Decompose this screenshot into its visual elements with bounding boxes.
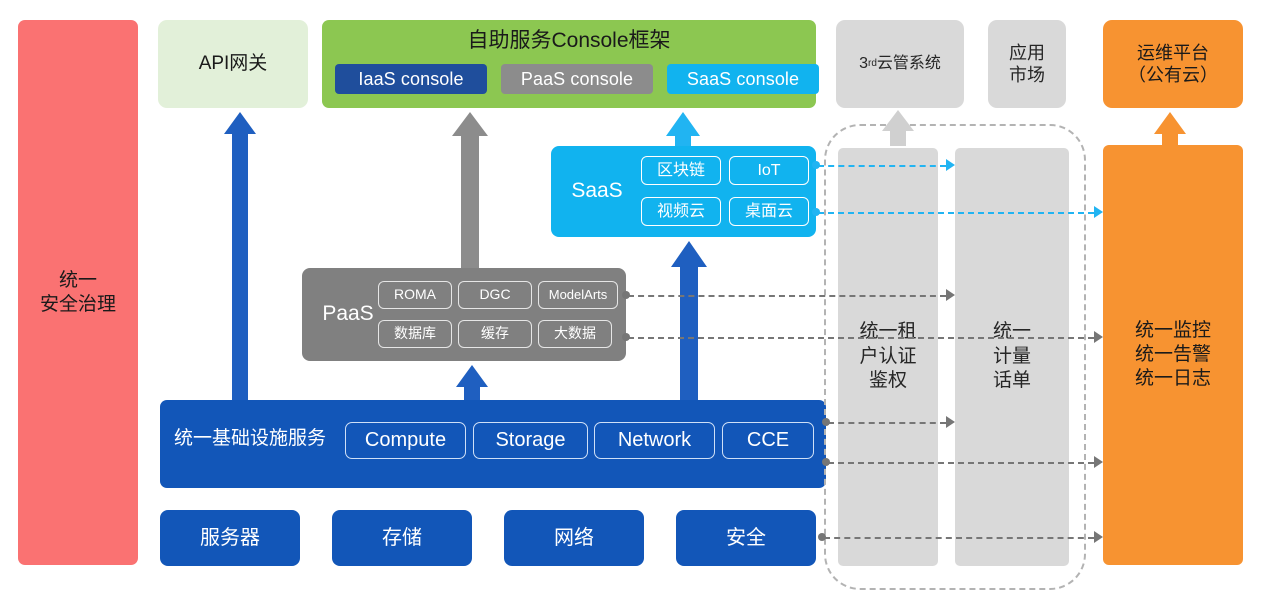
connector-head-paas-to-auth [946,289,955,301]
arrow-saas-to-saas-console [666,112,700,146]
arrow-layer [0,0,1265,605]
connector-line-resource-to-ops [824,537,1094,539]
arrow-ops-bar-to-ops-top [1154,112,1186,145]
connector-head-paas-to-ops [1094,331,1103,343]
connector-line-paas-to-ops [628,337,1094,339]
arrow-infra-to-paas [456,365,488,400]
arrow-infra-to-saas [671,241,707,400]
arrow-shared-to-third-cloud [882,110,914,146]
arrow-infra-to-api-gateway [224,112,256,400]
architecture-diagram: 统一 安全治理 API网关 自助服务Console框架 IaaS console… [0,0,1265,605]
connector-head-resource-to-ops [1094,531,1103,543]
connector-head-infra-to-ops [1094,456,1103,468]
connector-line-saas-to-auth [818,165,946,167]
connector-head-saas-to-auth [946,159,955,171]
connector-head-infra-to-auth [946,416,955,428]
connector-line-paas-to-auth [628,295,946,297]
connector-line-saas-to-ops [818,212,1094,214]
connector-line-infra-to-auth [828,422,946,424]
connector-head-saas-to-ops [1094,206,1103,218]
connector-line-infra-to-ops [828,462,1094,464]
arrow-paas-to-console [452,112,488,268]
